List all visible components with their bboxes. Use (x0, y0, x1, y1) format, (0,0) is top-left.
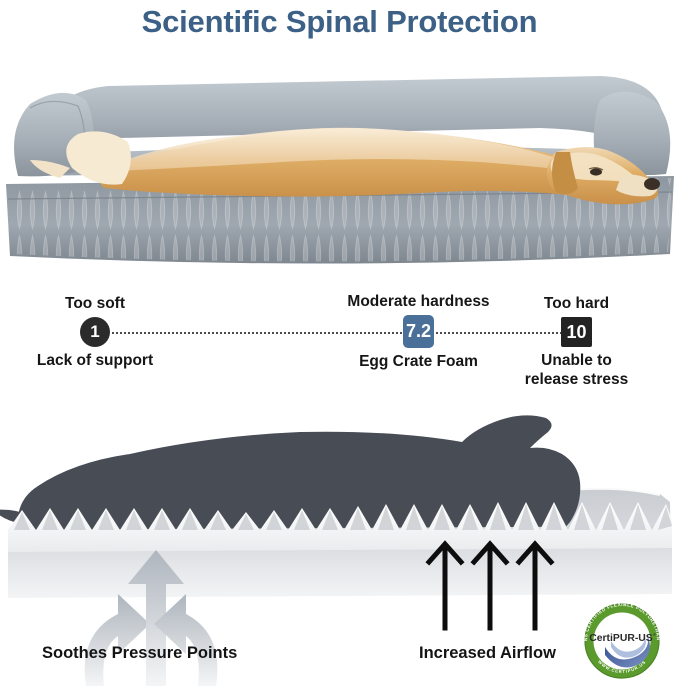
scale-chip-1: 1 (80, 317, 110, 347)
caption-soothes-pressure-points: Soothes Pressure Points (42, 644, 237, 663)
scale-node-moderate-bottom-label: Egg Crate Foam (359, 352, 478, 371)
scale-node-too-hard-bottom-line2: release stress (525, 370, 628, 389)
caption-increased-airflow: Increased Airflow (419, 644, 556, 663)
badge-center-text: CertiPUR-US (589, 633, 653, 644)
scale-chip-10: 10 (561, 317, 592, 347)
certipur-us-badge: CONTAINS CERTIFIED FLEXIBLE POLYURETHANE… (577, 597, 667, 681)
scale-node-too-hard-bottom-line1: Unable to (525, 351, 628, 370)
scale-node-too-hard: Too hard 10 Unable to release stress (561, 317, 592, 347)
hardness-scale: Too soft 1 Lack of support Moderate hard… (0, 288, 679, 392)
page-title: Scientific Spinal Protection (0, 2, 679, 42)
scale-node-too-soft: Too soft 1 Lack of support (80, 317, 110, 347)
scale-node-moderate-top-label: Moderate hardness (347, 292, 489, 312)
hero-photo (0, 56, 679, 264)
dog-on-bed-illustration (0, 56, 679, 264)
scale-node-too-hard-bottom-label: Unable to release stress (525, 351, 628, 389)
scale-node-too-soft-top-label: Too soft (65, 294, 125, 314)
scale-chip-7-2: 7.2 (403, 315, 434, 348)
scale-dotted-line (112, 332, 578, 334)
badge-trademark: ® (653, 632, 656, 637)
scale-node-too-soft-bottom-label: Lack of support (37, 351, 153, 370)
scale-node-too-hard-top-label: Too hard (544, 294, 609, 314)
scale-node-moderate: Moderate hardness 7.2 Egg Crate Foam (403, 315, 434, 348)
airflow-arrows (429, 544, 551, 628)
certipur-us-seal-icon: CONTAINS CERTIFIED FLEXIBLE POLYURETHANE… (577, 597, 667, 681)
